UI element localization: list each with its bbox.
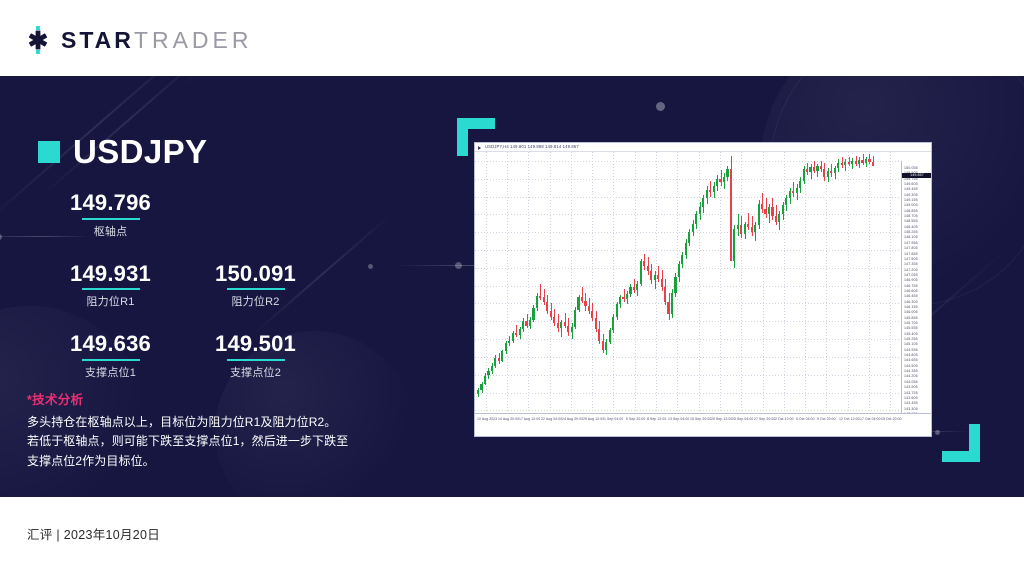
level-value: 149.931	[38, 261, 183, 287]
analysis-title: *技术分析	[27, 389, 392, 408]
level-resistance-1: 149.931 阻力位R1	[38, 261, 183, 320]
chart-header: USDJPY,H4 149.801 149.888 149.814 149.85…	[475, 143, 931, 152]
level-label: 阻力位R1	[38, 293, 183, 309]
level-resistance-2: 150.091 阻力位R2	[183, 261, 328, 320]
page-title: USDJPY	[73, 133, 207, 171]
level-value: 149.796	[38, 190, 183, 216]
current-price-label: 149.857	[902, 173, 931, 178]
analysis-line-3: 支撑点位2作为目标位。	[27, 452, 392, 471]
support-row: 149.636 支撑点位1 149.501 支撑点位2	[38, 331, 328, 390]
chart-title: USDJPY,H4 149.801 149.888 149.814 149.85…	[485, 144, 579, 149]
footer-caption: 汇评 | 2023年10月20日	[27, 524, 160, 543]
level-label: 枢轴点	[38, 223, 183, 239]
analysis-line-1: 多头持仓在枢轴点以上，目标位为阻力位R1及阻力位R2。	[27, 413, 392, 432]
chart-plot-area: 150.055149.905149.755149.605149.455149.3…	[475, 152, 931, 414]
level-underline	[227, 288, 285, 290]
level-pivot: 149.796 枢轴点	[38, 190, 183, 249]
poster-root: STAR TRADER	[0, 0, 1024, 576]
level-value: 149.501	[183, 331, 328, 357]
level-underline	[82, 359, 140, 361]
price-chart[interactable]: USDJPY,H4 149.801 149.888 149.814 149.85…	[474, 142, 932, 437]
time-axis[interactable]: 10 Aug 202314 Aug 20:0017 Aug 12:0022 Au…	[475, 413, 931, 436]
level-support-2: 149.501 支撑点位2	[183, 331, 328, 390]
candlestick-series	[475, 152, 931, 414]
collapse-arrow-icon[interactable]	[478, 146, 481, 150]
level-underline	[82, 288, 140, 290]
level-label: 阻力位R2	[183, 293, 328, 309]
price-axis[interactable]: 150.055149.905149.755149.605149.455149.3…	[901, 161, 931, 414]
brand-name-bold: STAR	[61, 27, 134, 54]
page-header: STAR TRADER	[0, 0, 1024, 76]
asterisk-star-icon	[24, 26, 52, 54]
level-label: 支撑点位1	[38, 364, 183, 380]
accent-square-icon	[38, 141, 60, 163]
brand-name-light: TRADER	[134, 27, 253, 54]
level-label: 支撑点位2	[183, 364, 328, 380]
level-underline	[82, 218, 140, 220]
level-value: 150.091	[183, 261, 328, 287]
pivot-levels: 149.796 枢轴点 149.931 阻力位R1 150.091 阻力位R2	[38, 190, 328, 390]
page-footer: 汇评 | 2023年10月20日	[0, 497, 1024, 576]
corner-bracket-bottom-right	[942, 424, 980, 462]
pair-title-row: USDJPY	[38, 133, 207, 171]
brand-logo[interactable]: STAR TRADER	[24, 26, 252, 54]
technical-analysis-block: *技术分析 多头持仓在枢轴点以上，目标位为阻力位R1及阻力位R2。 若低于枢轴点…	[27, 389, 392, 471]
analysis-line-2: 若低于枢轴点，则可能下跌至支撑点位1，然后进一步下跌至	[27, 432, 392, 451]
pivot-row: 149.796 枢轴点	[38, 190, 328, 249]
resistance-row: 149.931 阻力位R1 150.091 阻力位R2	[38, 261, 328, 320]
level-support-1: 149.636 支撑点位1	[38, 331, 183, 390]
level-value: 149.636	[38, 331, 183, 357]
level-underline	[227, 359, 285, 361]
